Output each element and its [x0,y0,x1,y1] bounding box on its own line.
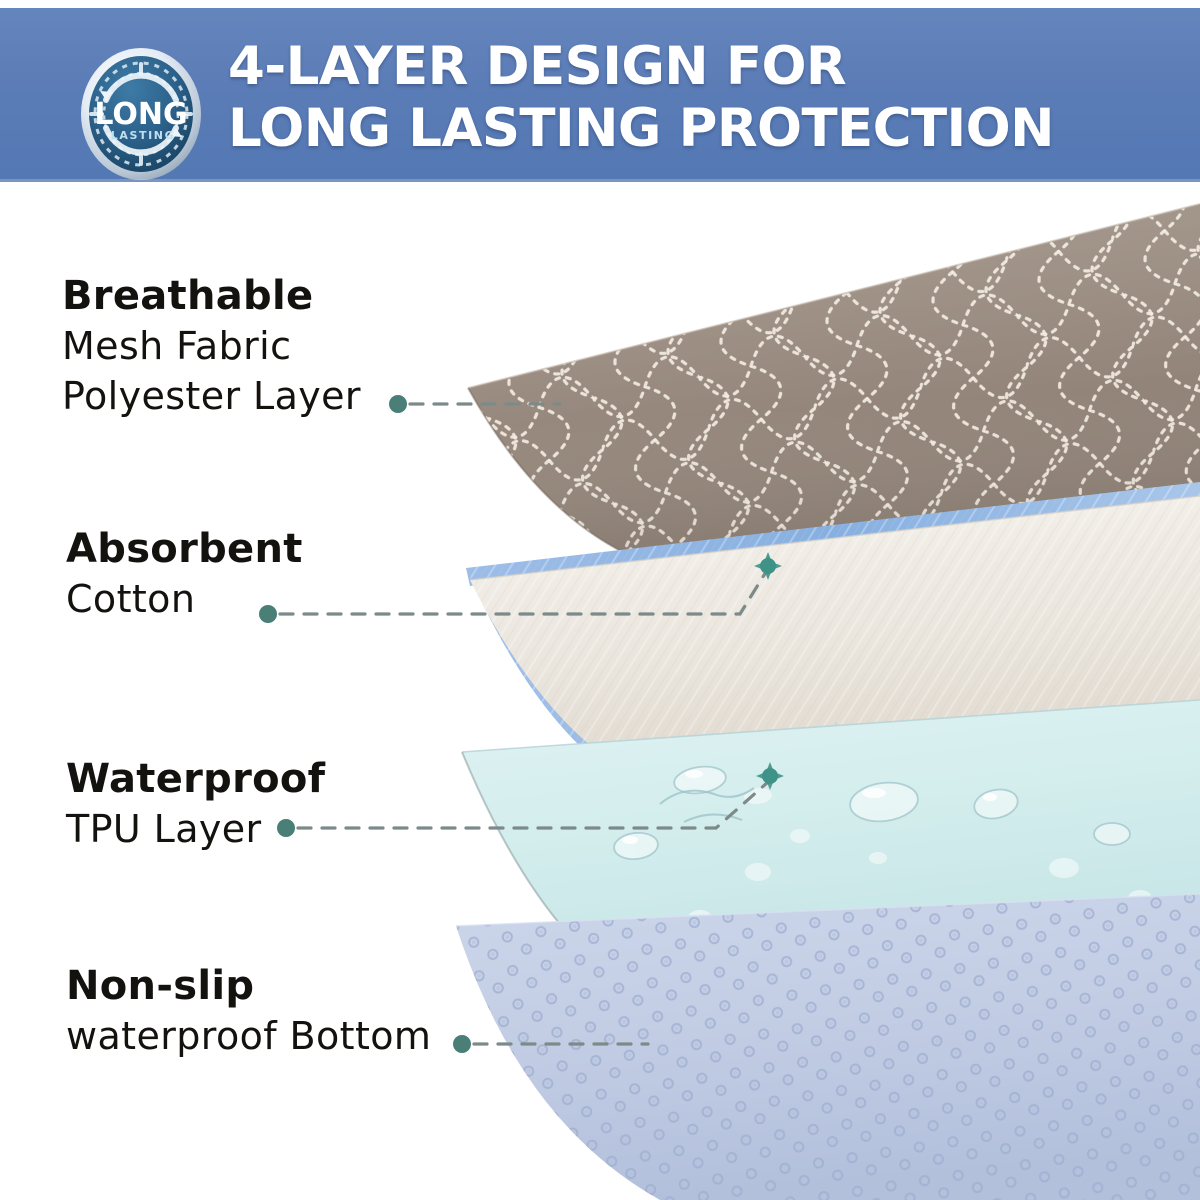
layer-label-absorbent-line2: Cotton [66,574,303,624]
layer-label-breathable: Breathable Mesh Fabric Polyester Layer [62,272,361,421]
layer-label-breathable-title: Breathable [62,272,361,321]
non-slip-bottom-layer [440,882,1200,1200]
header-title-line-2: LONG LASTING PROTECTION [228,98,1178,160]
layer-label-nonslip-line2: waterproof Bottom [66,1011,431,1061]
layer-label-breathable-line3: Polyester Layer [62,371,361,421]
infographic-page: LONG LASTING 4-LAYER DESIGN FOR LONG LAS… [0,0,1200,1200]
layer-label-nonslip: Non-slip waterproof Bottom [66,962,431,1061]
badge-main-text: LONG [94,97,187,132]
layer-label-waterproof-title: Waterproof [66,755,325,804]
header-banner: LONG LASTING 4-LAYER DESIGN FOR LONG LAS… [0,8,1200,182]
long-lasting-seal-icon: LONG LASTING [66,38,216,182]
layer-label-breathable-line2: Mesh Fabric [62,321,361,371]
leader-dot-nonslip [453,1035,471,1053]
layer-label-waterproof-line2: TPU Layer [66,804,325,854]
layer-label-waterproof: Waterproof TPU Layer [66,755,325,854]
header-title-line-1: 4-LAYER DESIGN FOR [228,36,1178,98]
header-title: 4-LAYER DESIGN FOR LONG LASTING PROTECTI… [228,36,1178,160]
layer-label-absorbent-title: Absorbent [66,525,303,574]
layer-label-absorbent: Absorbent Cotton [66,525,303,624]
leader-dot-breathable [389,395,407,413]
badge-sub-text: LASTING [111,129,175,142]
layer-label-nonslip-title: Non-slip [66,962,431,1011]
